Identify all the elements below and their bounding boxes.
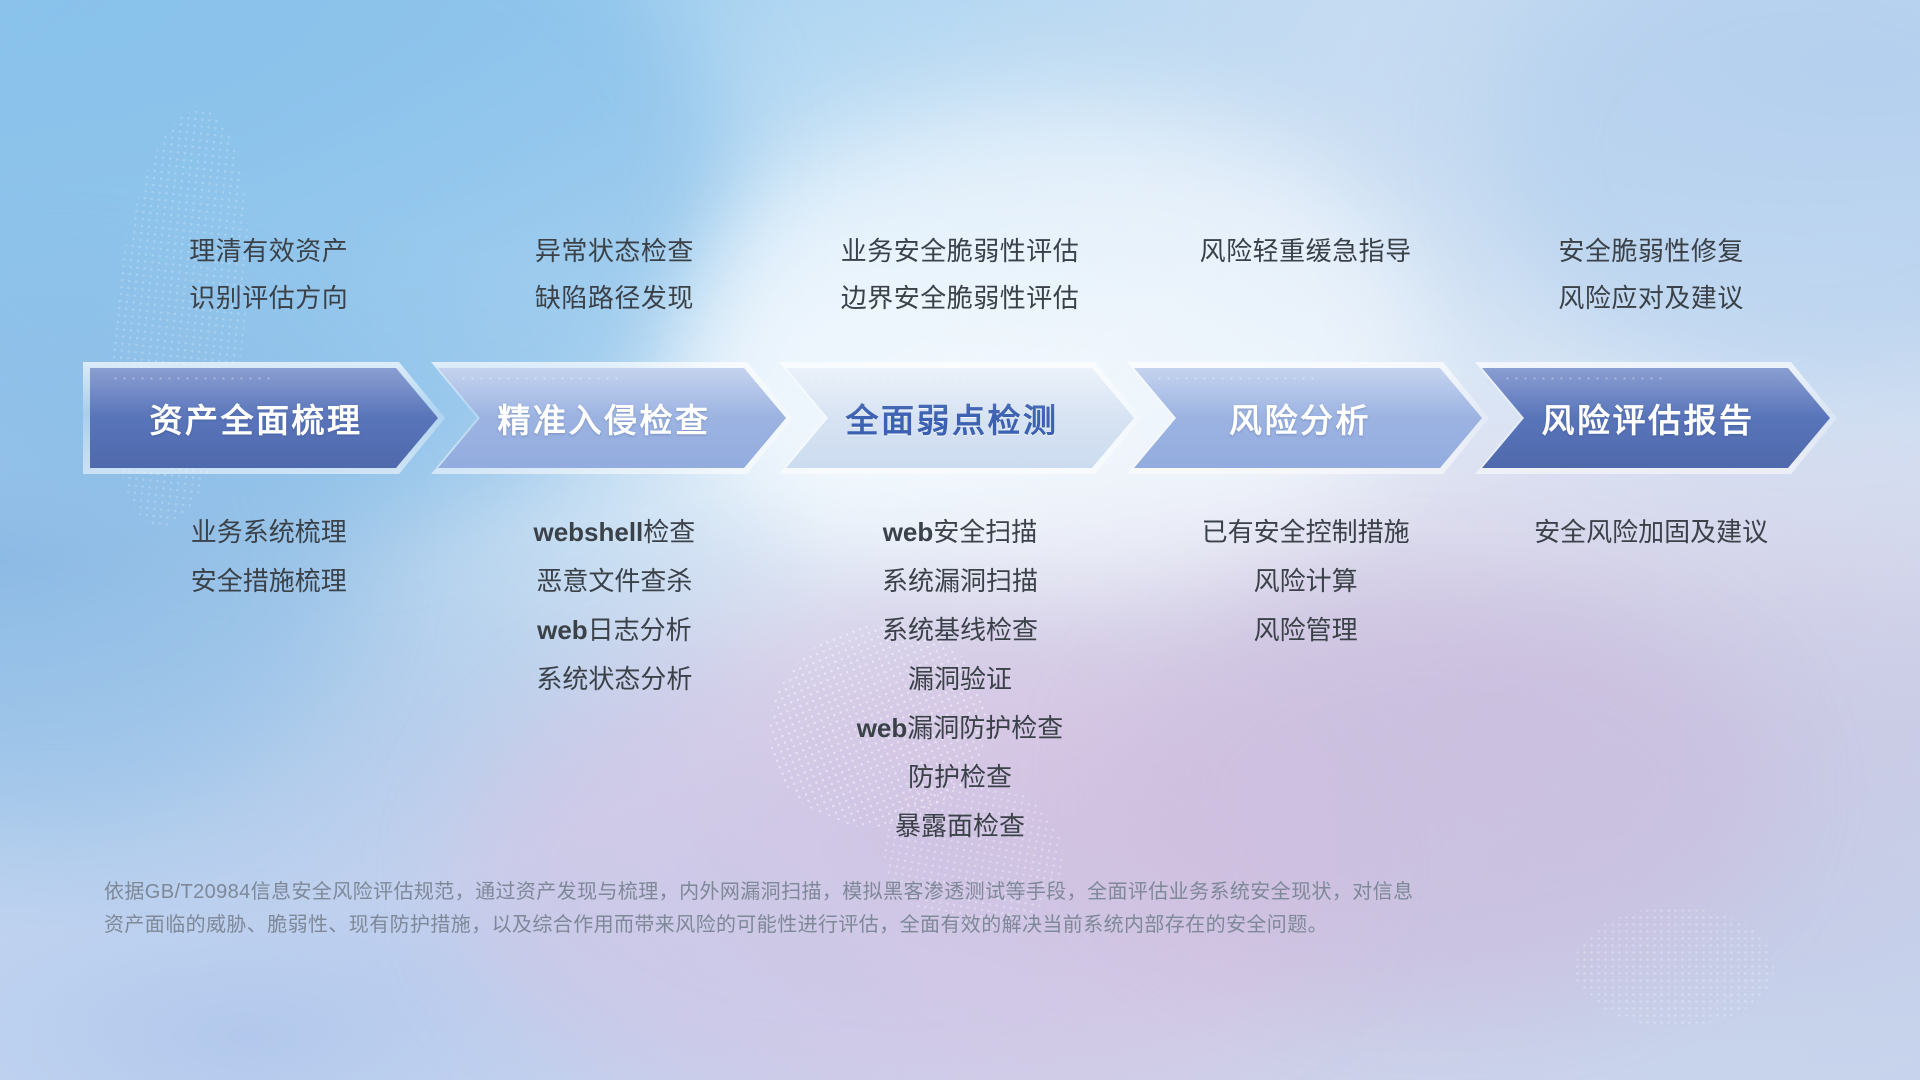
caption-text-token: 安全风险加固及建议 [1534, 517, 1768, 547]
caption-latin-token: web [537, 615, 588, 645]
bottom-caption-item: 暴露面检查 [895, 802, 1025, 851]
top-caption-item: 业务安全脆弱性评估 [841, 228, 1080, 275]
top-caption-item: 安全脆弱性修复 [1558, 228, 1744, 275]
process-diagram: 理清有效资产识别评估方向异常状态检查缺陷路径发现业务安全脆弱性评估边界安全脆弱性… [0, 0, 1920, 1080]
chevron-body[interactable]: 风险评估报告 [1482, 368, 1830, 468]
caption-text-token: 业务系统梳理 [191, 517, 347, 547]
chevron-stage-risk-report[interactable]: 风险评估报告 [1482, 368, 1830, 468]
chevron-dot-texture [459, 374, 619, 383]
caption-latin-token: web [857, 713, 908, 743]
bottom-caption-item: webshell检查 [533, 508, 695, 557]
chevron-label-weakness-detection: 全面弱点检测 [846, 394, 1059, 442]
chevron-stage-risk-analysis[interactable]: 风险分析 [1134, 368, 1482, 468]
chevron-dot-texture [807, 374, 967, 383]
caption-text-token: 检查 [643, 517, 695, 547]
top-caption-row: 理清有效资产识别评估方向异常状态检查缺陷路径发现业务安全脆弱性评估边界安全脆弱性… [0, 228, 1920, 322]
bottom-caption-item: 风险计算 [1254, 557, 1358, 606]
top-caption-item: 边界安全脆弱性评估 [841, 275, 1080, 322]
bottom-caption-item: 风险管理 [1254, 606, 1358, 655]
caption-text-token: 漏洞防护检查 [907, 713, 1063, 743]
chevron-body[interactable]: 资产全面梳理 [90, 368, 438, 468]
bottom-caption-item: 系统基线检查 [882, 606, 1038, 655]
caption-text-token: 系统漏洞扫描 [882, 566, 1038, 596]
bottom-caption-item: 恶意文件查杀 [536, 557, 692, 606]
top-captions-intrusion-check: 异常状态检查缺陷路径发现 [442, 228, 788, 322]
caption-text-token: 暴露面检查 [895, 811, 1025, 841]
bottom-caption-item: 业务系统梳理 [191, 508, 347, 557]
chevron-body[interactable]: 精准入侵检查 [438, 368, 786, 468]
top-captions-risk-analysis: 风险轻重缓急指导 [1133, 228, 1479, 322]
chevron-stage-intrusion-check[interactable]: 精准入侵检查 [438, 368, 786, 468]
chevron-body[interactable]: 全面弱点检测 [786, 368, 1134, 468]
bottom-caption-item: 防护检查 [908, 753, 1012, 802]
top-captions-asset-inventory: 理清有效资产识别评估方向 [96, 228, 442, 322]
top-captions-weakness-detection: 业务安全脆弱性评估边界安全脆弱性评估 [787, 228, 1133, 322]
chevron-stage-asset-inventory[interactable]: 资产全面梳理 [90, 368, 438, 468]
top-caption-item: 风险轻重缓急指导 [1200, 228, 1412, 275]
bottom-caption-item: 系统状态分析 [536, 655, 692, 704]
top-caption-item: 风险应对及建议 [1558, 275, 1744, 322]
bottom-captions-intrusion-check: webshell检查恶意文件查杀web日志分析系统状态分析 [442, 508, 788, 704]
chevron-label-intrusion-check: 精准入侵检查 [498, 394, 711, 442]
caption-text-token: 风险计算 [1254, 566, 1358, 596]
chevron-dot-texture [1155, 374, 1315, 383]
chevron-dot-texture [1503, 374, 1663, 383]
top-caption-item: 识别评估方向 [189, 275, 348, 322]
top-caption-item: 异常状态检查 [535, 228, 694, 275]
caption-text-token: 风险管理 [1254, 615, 1358, 645]
bottom-captions-asset-inventory: 业务系统梳理安全措施梳理 [96, 508, 442, 606]
top-caption-item: 理清有效资产 [189, 228, 348, 275]
caption-text-token: 安全扫描 [933, 517, 1037, 547]
caption-text-token: 安全措施梳理 [191, 566, 347, 596]
bottom-captions-risk-report: 安全风险加固及建议 [1478, 508, 1824, 557]
bottom-caption-item: web安全扫描 [883, 508, 1038, 557]
chevron-process-band: 资产全面梳理精准入侵检查全面弱点检测风险分析风险评估报告 [0, 368, 1920, 468]
caption-text-token: 漏洞验证 [908, 664, 1012, 694]
caption-latin-token: webshell [533, 517, 643, 547]
bottom-captions-risk-analysis: 已有安全控制措施风险计算风险管理 [1133, 508, 1479, 655]
bottom-caption-item: 漏洞验证 [908, 655, 1012, 704]
top-caption-item: 缺陷路径发现 [535, 275, 694, 322]
caption-text-token: 已有安全控制措施 [1202, 517, 1410, 547]
chevron-label-asset-inventory: 资产全面梳理 [150, 394, 363, 442]
chevron-label-risk-report: 风险评估报告 [1542, 394, 1755, 442]
bottom-caption-item: web漏洞防护检查 [857, 704, 1064, 753]
bottom-caption-item: 安全措施梳理 [191, 557, 347, 606]
caption-text-token: 日志分析 [588, 615, 692, 645]
footer-line-1: 依据GB/T20984信息安全风险评估规范，通过资产发现与梳理，内外网漏洞扫描，… [104, 876, 1624, 909]
chevron-label-risk-analysis: 风险分析 [1229, 394, 1371, 442]
top-captions-risk-report: 安全脆弱性修复风险应对及建议 [1478, 228, 1824, 322]
bottom-caption-item: 安全风险加固及建议 [1534, 508, 1768, 557]
chevron-stage-weakness-detection[interactable]: 全面弱点检测 [786, 368, 1134, 468]
bottom-captions-weakness-detection: web安全扫描系统漏洞扫描系统基线检查漏洞验证web漏洞防护检查防护检查暴露面检… [787, 508, 1133, 851]
footer-description: 依据GB/T20984信息安全风险评估规范，通过资产发现与梳理，内外网漏洞扫描，… [104, 876, 1624, 942]
caption-text-token: 系统基线检查 [882, 615, 1038, 645]
caption-text-token: 防护检查 [908, 762, 1012, 792]
bottom-caption-item: 系统漏洞扫描 [882, 557, 1038, 606]
footer-line-2: 资产面临的威胁、脆弱性、现有防护措施，以及综合作用而带来风险的可能性进行评估，全… [104, 909, 1624, 942]
bottom-caption-item: 已有安全控制措施 [1202, 508, 1410, 557]
chevron-dot-texture [111, 374, 271, 383]
caption-text-token: 恶意文件查杀 [536, 566, 692, 596]
caption-latin-token: web [883, 517, 934, 547]
bottom-caption-item: web日志分析 [537, 606, 692, 655]
chevron-body[interactable]: 风险分析 [1134, 368, 1482, 468]
caption-text-token: 系统状态分析 [536, 664, 692, 694]
bottom-caption-row: 业务系统梳理安全措施梳理webshell检查恶意文件查杀web日志分析系统状态分… [0, 508, 1920, 851]
